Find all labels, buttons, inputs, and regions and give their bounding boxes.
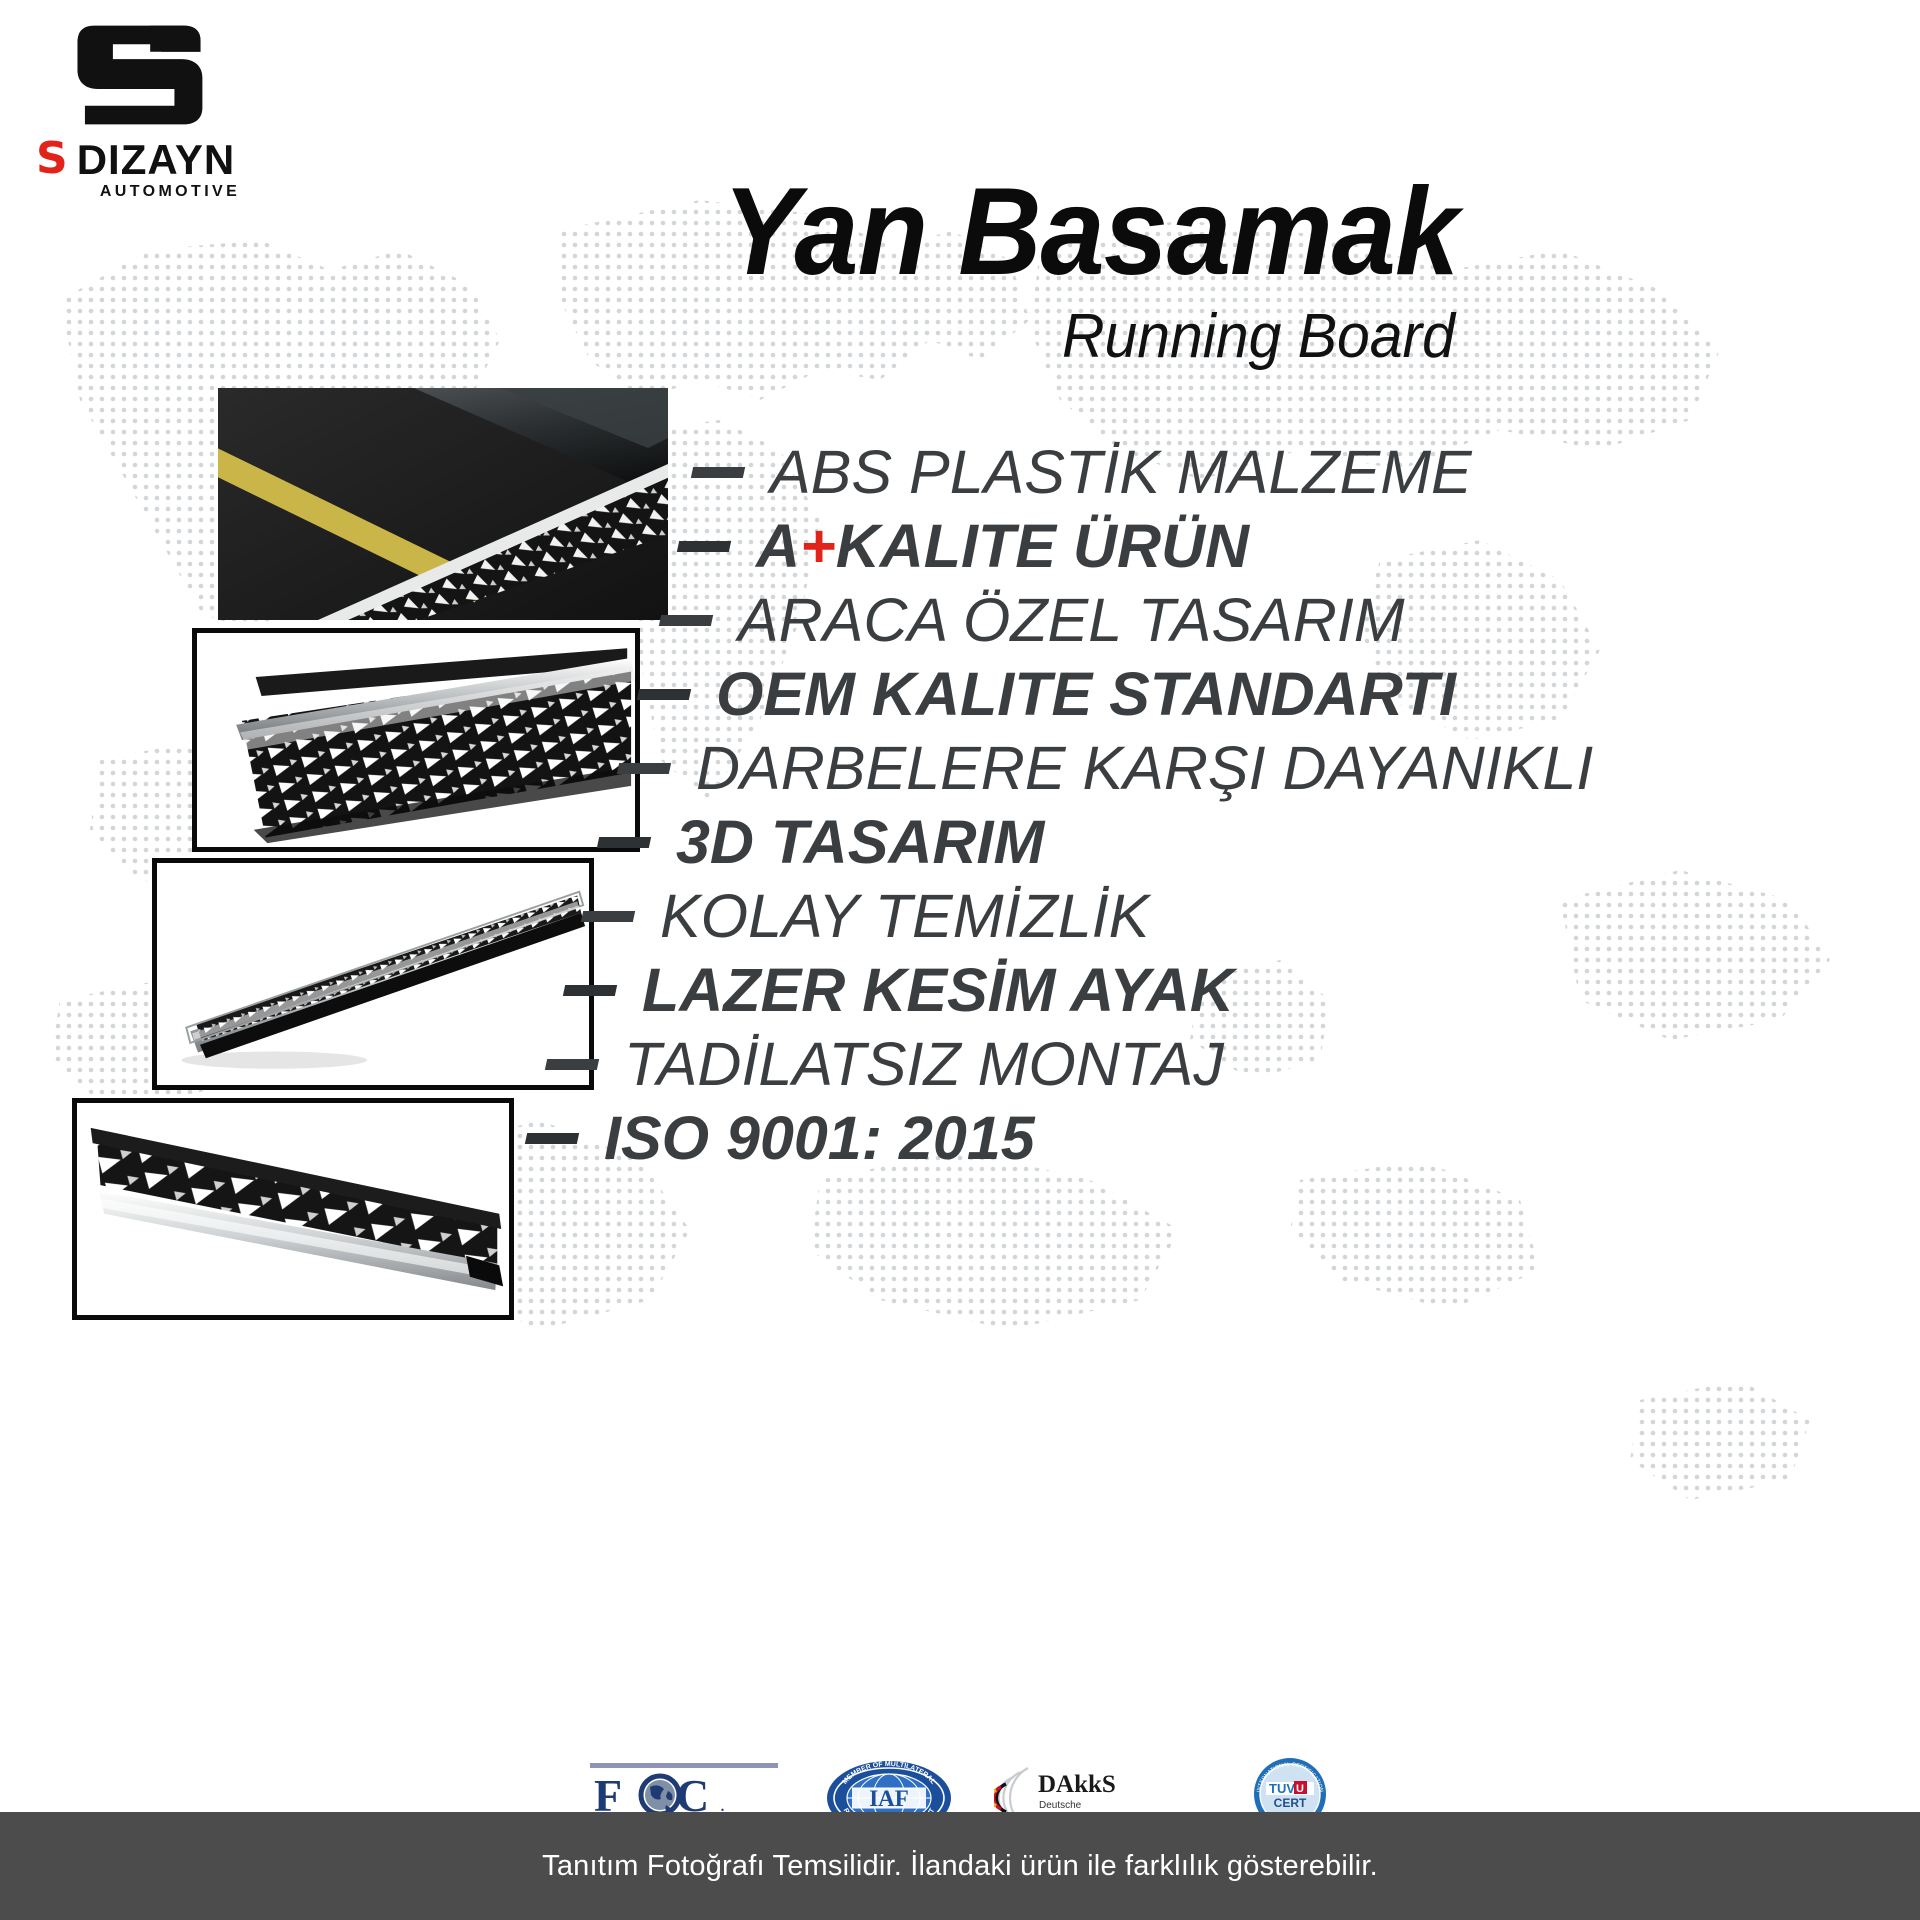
feature-label: KOLAY TEMİZLİK — [660, 884, 1149, 948]
feature-item: ABS PLASTİK MALZEME — [692, 440, 1920, 504]
feature-text-a: A — [756, 512, 800, 580]
footer-disclaimer-text: Tanıtım Fotoğrafı Temsilidir. İlandaki ü… — [542, 1850, 1378, 1883]
feature-item: ISO 9001: 2015 — [526, 1106, 1920, 1170]
feature-label: 3D TASARIM — [676, 810, 1044, 874]
svg-text:U: U — [1296, 1783, 1304, 1795]
feature-label: OEM KALITE STANDARTI — [716, 662, 1456, 726]
bullet-dash-icon — [545, 1059, 599, 1070]
product-photo-3[interactable] — [152, 858, 594, 1090]
feature-item: KOLAY TEMİZLİK — [582, 884, 1920, 948]
bullet-dash-icon — [563, 985, 617, 996]
feature-label: DARBELERE KARŞI DAYANIKLI — [696, 736, 1593, 800]
bullet-dash-icon — [597, 837, 651, 848]
bullet-dash-icon — [581, 911, 635, 922]
footer-disclaimer-bar: Tanıtım Fotoğrafı Temsilidir. İlandaki ü… — [0, 1812, 1920, 1920]
feature-item: OEM KALITE STANDARTI — [638, 662, 1920, 726]
cert-tuv-title: TUV — [1269, 1781, 1295, 1796]
feature-item: DARBELERE KARŞI DAYANIKLI — [618, 736, 1920, 800]
cert-tuv-sub: CERT — [1274, 1796, 1307, 1810]
feature-text-rest: KALITE ÜRÜN — [836, 512, 1249, 580]
feature-label: TADİLATSIZ MONTAJ — [624, 1032, 1224, 1096]
bullet-dash-icon — [617, 763, 671, 774]
page-subtitle: Running Board — [85, 306, 1700, 368]
cert-dakks-line1: Deutsche — [1039, 1800, 1082, 1811]
product-photo-4[interactable] — [72, 1098, 514, 1320]
s-monogram-icon — [44, 20, 234, 130]
bullet-dash-icon — [691, 467, 745, 478]
cert-iaf-title: IAF — [869, 1786, 909, 1811]
bullet-dash-icon — [659, 615, 713, 626]
feature-item: TADİLATSIZ MONTAJ — [546, 1032, 1920, 1096]
feature-list: ABS PLASTİK MALZEME A+KALITE ÜRÜN ARACA … — [560, 440, 1920, 1180]
page-title: Yan Basamak — [119, 170, 1700, 294]
cert-dakks-title: DAkkS — [1038, 1771, 1116, 1798]
feature-item: 3D TASARIM — [598, 810, 1920, 874]
feature-label: ARACA ÖZEL TASARIM — [738, 588, 1405, 652]
feature-label: A+KALITE ÜRÜN — [756, 514, 1249, 578]
feature-item: LAZER KESİM AYAK — [564, 958, 1920, 1022]
bullet-dash-icon — [525, 1133, 579, 1144]
feature-label: ISO 9001: 2015 — [604, 1106, 1035, 1170]
feature-label: ABS PLASTİK MALZEME — [770, 440, 1472, 504]
feature-item: ARACA ÖZEL TASARIM — [660, 588, 1920, 652]
plus-symbol: + — [800, 512, 836, 580]
feature-item: A+KALITE ÜRÜN — [678, 514, 1920, 578]
title-block: Yan Basamak Running Board — [0, 170, 1700, 368]
feature-label: LAZER KESİM AYAK — [642, 958, 1234, 1022]
bullet-dash-icon — [637, 689, 691, 700]
bullet-dash-icon — [677, 541, 731, 552]
